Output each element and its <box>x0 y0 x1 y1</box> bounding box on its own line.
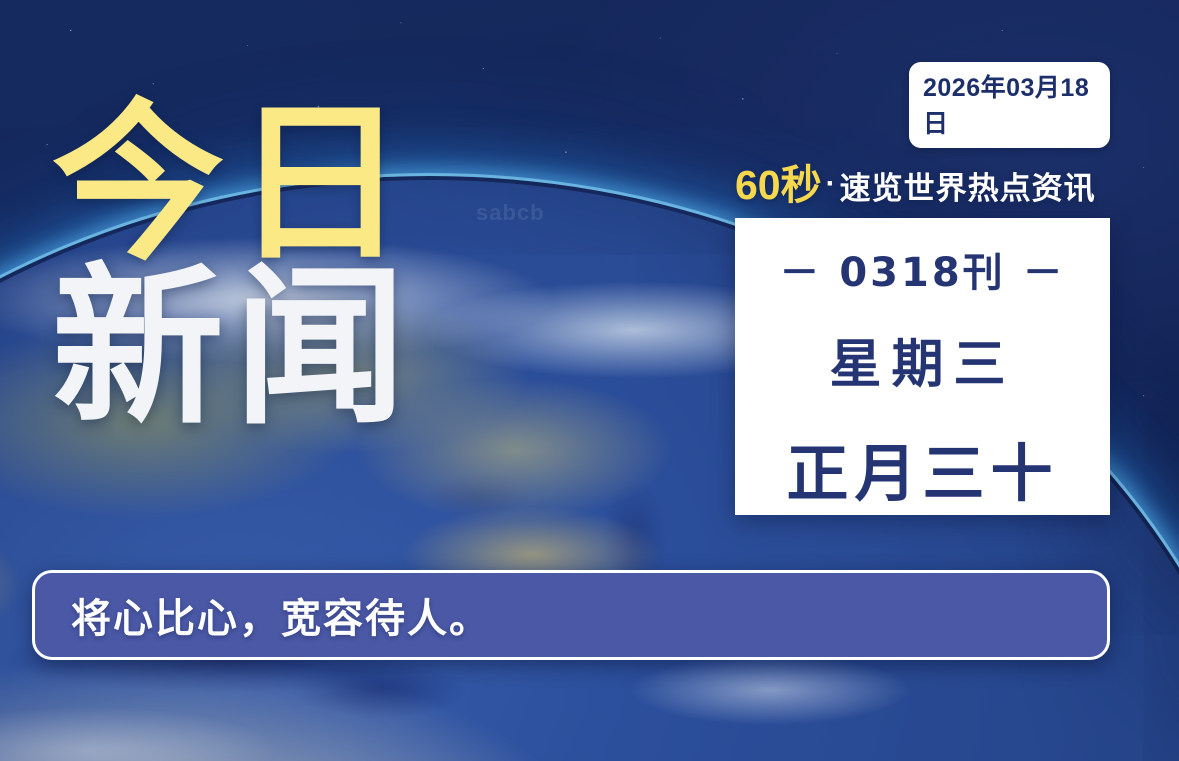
tagline-seconds: 60秒 <box>735 162 822 208</box>
tagline-subtitle: 速览世界热点资讯 <box>840 171 1096 206</box>
page-title: 今日 新闻 <box>52 104 472 428</box>
quote-text: 将心比心，宽容待人。 <box>71 586 491 644</box>
quote-bar: 将心比心，宽容待人。 <box>32 570 1110 660</box>
date-badge: 2026年03月18日 <box>909 62 1110 148</box>
news-poster: sabcb 今日 新闻 2026年03月18日 60秒·速览世界热点资讯 － 0… <box>0 0 1179 761</box>
tagline: 60秒·速览世界热点资讯 <box>735 165 1110 206</box>
title-line-news: 新闻 <box>52 268 472 428</box>
info-column: 2026年03月18日 60秒·速览世界热点资讯 － 0318刊 － 星期三 正… <box>735 62 1110 515</box>
title-line-today: 今日 <box>52 104 472 264</box>
lunar-date: 正月三十 <box>786 423 1058 513</box>
watermark-text: sabcb <box>476 200 545 226</box>
weekday: 星期三 <box>829 322 1015 397</box>
tagline-separator: · <box>822 167 840 200</box>
issue-number: － 0318刊 － <box>779 240 1065 298</box>
info-card: － 0318刊 － 星期三 正月三十 <box>735 218 1110 515</box>
